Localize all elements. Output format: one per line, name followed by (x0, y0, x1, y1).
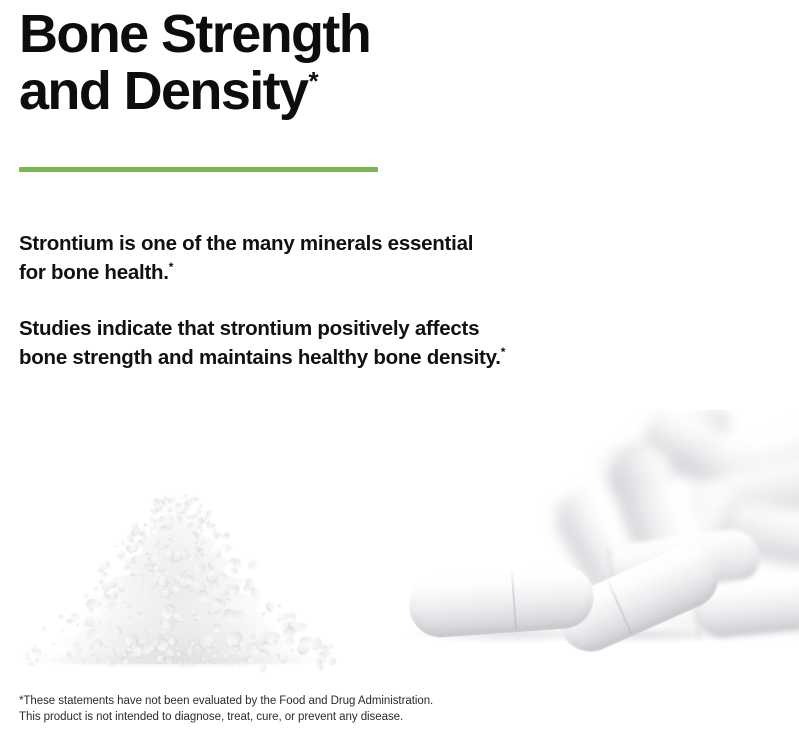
powder-grain (121, 601, 126, 606)
powder-grain (131, 645, 135, 649)
body-paragraph-2: Studies indicate that strontium positive… (19, 314, 519, 372)
powder-grain (148, 531, 152, 535)
powder-grain (212, 522, 215, 525)
promo-panel: Bone Strengthand Density* Strontium is o… (0, 0, 799, 729)
body-paragraph-2-asterisk: * (501, 345, 505, 359)
page-title: Bone Strengthand Density* (19, 6, 539, 120)
powder-grain (214, 548, 222, 556)
green-divider (19, 167, 378, 172)
fda-disclaimer: *These statements have not been evaluate… (19, 694, 579, 725)
powder-grain (85, 594, 88, 598)
strontium-powder-image (12, 458, 342, 668)
powder-grain (132, 557, 138, 563)
powder-grain (166, 520, 173, 528)
powder-grain (59, 614, 65, 620)
powder-grain (50, 643, 54, 647)
product-imagery (0, 410, 799, 685)
powder-grain (231, 611, 243, 623)
body-paragraph-1-text: Strontium is one of the many minerals es… (19, 232, 473, 284)
powder-grain (87, 609, 91, 613)
powder-grain (92, 587, 98, 594)
fda-disclaimer-line-1: *These statements have not been evaluate… (19, 694, 579, 710)
powder-grain (117, 550, 124, 558)
powder-grain (123, 652, 126, 656)
body-paragraph-2-text: Studies indicate that strontium positive… (19, 317, 501, 369)
body-paragraph-1-asterisk: * (169, 260, 173, 274)
powder-grain (184, 495, 187, 498)
powder-grain (43, 626, 47, 631)
powder-grain (149, 515, 154, 519)
powder-grain (153, 520, 155, 523)
powder-grain (101, 588, 107, 594)
powder-grain (200, 549, 203, 552)
powder-grain (132, 539, 135, 542)
powder-grain (277, 604, 281, 607)
capsule-seam (511, 572, 517, 630)
powder-grain (325, 641, 334, 649)
capsule-seam (550, 486, 592, 511)
page-title-line-2: and Density (19, 61, 307, 121)
powder-grain (182, 548, 186, 553)
powder-grain (101, 572, 107, 578)
powder-grain (144, 524, 147, 528)
capsule-seam (607, 581, 632, 634)
powder-grain (110, 622, 113, 625)
powder-grain (198, 528, 203, 533)
powder-grain (197, 502, 202, 508)
powder-grain (173, 515, 181, 523)
powder-grain (68, 620, 74, 625)
foreground-capsule (407, 564, 596, 640)
page-title-line-1: Bone Strength (19, 4, 370, 64)
body-paragraph-1: Strontium is one of the many minerals es… (19, 229, 489, 287)
powder-grain (24, 651, 30, 656)
powder-grain (247, 560, 259, 571)
page-title-asterisk: * (308, 66, 318, 96)
powder-grain (220, 543, 231, 553)
powder-grain (94, 658, 98, 662)
powder-grain (124, 566, 131, 572)
powder-grain (61, 629, 64, 632)
powder-grain (76, 624, 80, 628)
fda-disclaimer-line-2: This product is not intended to diagnose… (19, 710, 579, 726)
powder-grain (115, 545, 118, 548)
powder-grain (262, 611, 265, 614)
capsules-image (395, 410, 799, 685)
powder-grain (164, 538, 171, 545)
